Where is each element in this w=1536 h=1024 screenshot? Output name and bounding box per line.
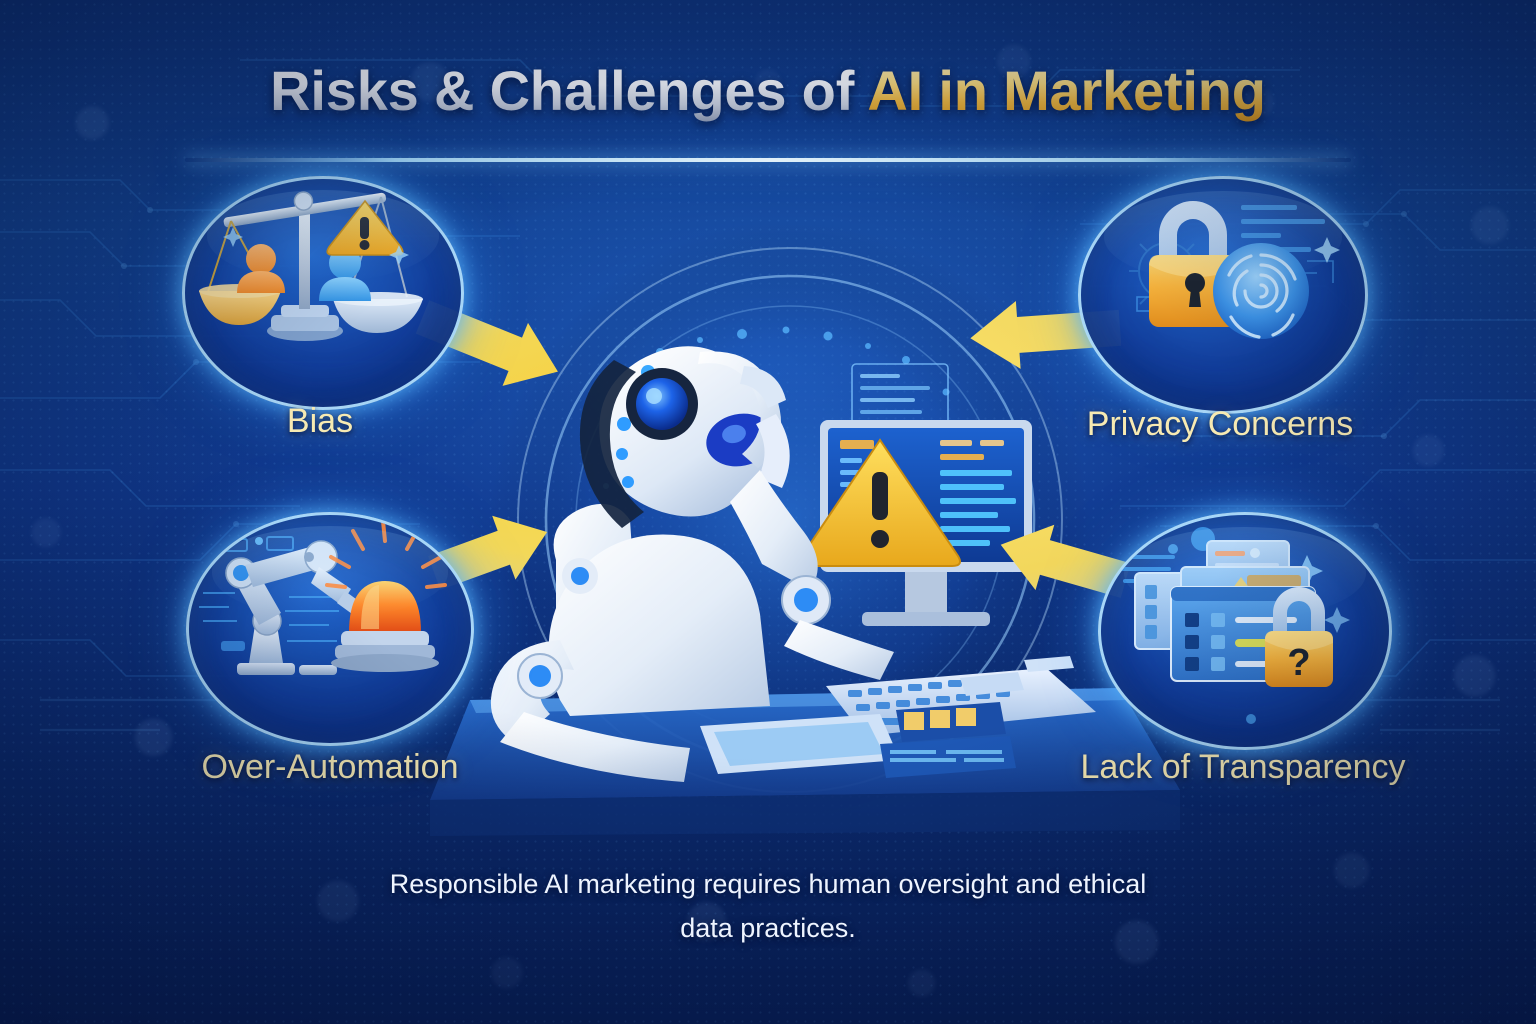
footer-line-1: Responsible AI marketing requires human … [268,862,1268,906]
footer-line-2: data practices. [268,906,1268,950]
node-label-lack-of-transparency: Lack of Transparency [1038,748,1448,787]
bias-bubble[interactable] [182,176,464,410]
orange-person-icon [237,244,285,293]
title-segment-gold: AI in Marketing [867,59,1265,122]
unbalanced-scales-icon [185,179,461,407]
footer-caption: Responsible AI marketing requires human … [268,862,1268,950]
title-divider-rule [185,158,1351,162]
stacked-windows-locked-icon: ? [1101,515,1389,747]
padlock-fingerprint-icon [1081,179,1365,411]
fingerprint-icon [1213,243,1309,339]
over-automation-bubble[interactable] [186,512,474,746]
node-label-bias: Bias [182,402,458,441]
node-label-privacy-concerns: Privacy Concerns [1055,405,1385,444]
svg-text:?: ? [1287,642,1310,684]
page-title: Risks & Challenges of AI in Marketing [0,58,1536,123]
title-segment-white: Risks & Challenges of [270,59,867,122]
infographic-poster: Risks & Challenges of AI in Marketing [0,0,1536,1024]
privacy-concerns-bubble[interactable] [1078,176,1368,414]
node-label-over-automation: Over-Automation [155,748,505,787]
robot-arm-alarm-icon [189,515,471,743]
lack-of-transparency-bubble[interactable]: ? [1098,512,1392,750]
